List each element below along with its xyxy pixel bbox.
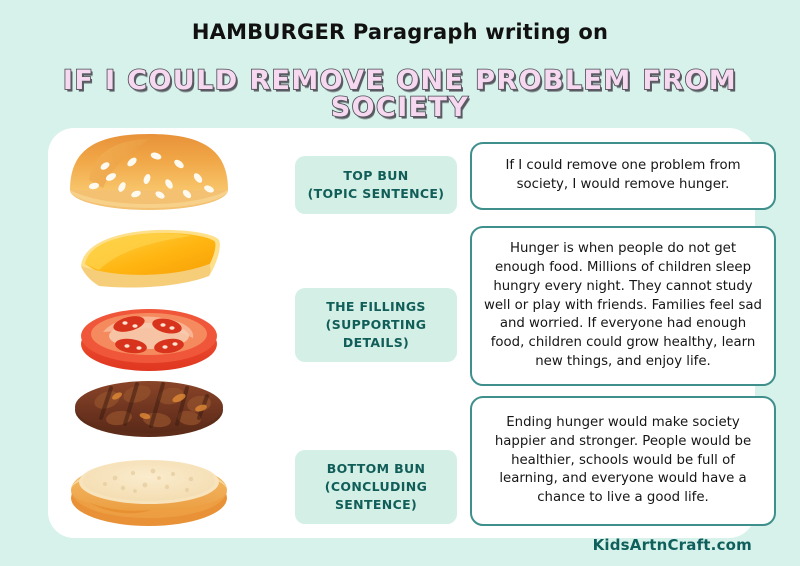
top-bun-illustration (70, 134, 228, 210)
topic-sentence-box: If I could remove one problem from socie… (470, 142, 776, 210)
label-line: (TOPIC SENTENCE) (308, 186, 445, 201)
label-chip-bottom-bun-text: BOTTOM BUN (CONCLUDING SENTENCE) (325, 460, 427, 514)
concluding-sentence-box: Ending hunger would make society happier… (470, 396, 776, 526)
label-line: DETAILS) (343, 335, 409, 350)
section-rows: TOP BUN (TOPIC SENTENCE) THE FILLINGS (S… (48, 128, 755, 538)
tomato-slice-illustration (81, 309, 217, 371)
meat-patty-illustration (75, 381, 223, 437)
cheese-slice-illustration (81, 230, 220, 288)
page-title: IF I COULD REMOVE ONE PROBLEM FROM SOCIE… (0, 43, 800, 121)
burger-stack-svg (59, 128, 239, 538)
label-chip-top-bun-text: TOP BUN (TOPIC SENTENCE) (308, 167, 445, 203)
bottom-bun-illustration (71, 460, 227, 526)
label-line: (CONCLUDING (325, 479, 427, 494)
supporting-details-box: Hunger is when people do not get enough … (470, 226, 776, 386)
brand-watermark: KidsArtnCraft.com (593, 536, 752, 554)
label-line: THE FILLINGS (326, 299, 426, 314)
label-line: BOTTOM BUN (327, 461, 426, 476)
topic-sentence-text: If I could remove one problem from socie… (483, 157, 763, 195)
label-chip-fillings-text: THE FILLINGS (SUPPORTING DETAILS) (326, 298, 427, 352)
label-line: SENTENCE) (335, 497, 417, 512)
supporting-details-text: Hunger is when people do not get enough … (483, 240, 763, 372)
page-subtitle: HAMBURGER Paragraph writing on (0, 22, 800, 43)
page-header: HAMBURGER Paragraph writing on IF I COUL… (0, 0, 800, 121)
concluding-sentence-text: Ending hunger would make society happier… (483, 414, 763, 508)
burger-illustration-stack (56, 128, 241, 538)
label-chip-fillings: THE FILLINGS (SUPPORTING DETAILS) (295, 288, 457, 362)
label-chip-top-bun: TOP BUN (TOPIC SENTENCE) (295, 156, 457, 214)
hamburger-paragraph-card: TOP BUN (TOPIC SENTENCE) THE FILLINGS (S… (48, 128, 755, 538)
label-chip-bottom-bun: BOTTOM BUN (CONCLUDING SENTENCE) (295, 450, 457, 524)
label-line: (SUPPORTING (326, 317, 427, 332)
label-line: TOP BUN (343, 168, 408, 183)
